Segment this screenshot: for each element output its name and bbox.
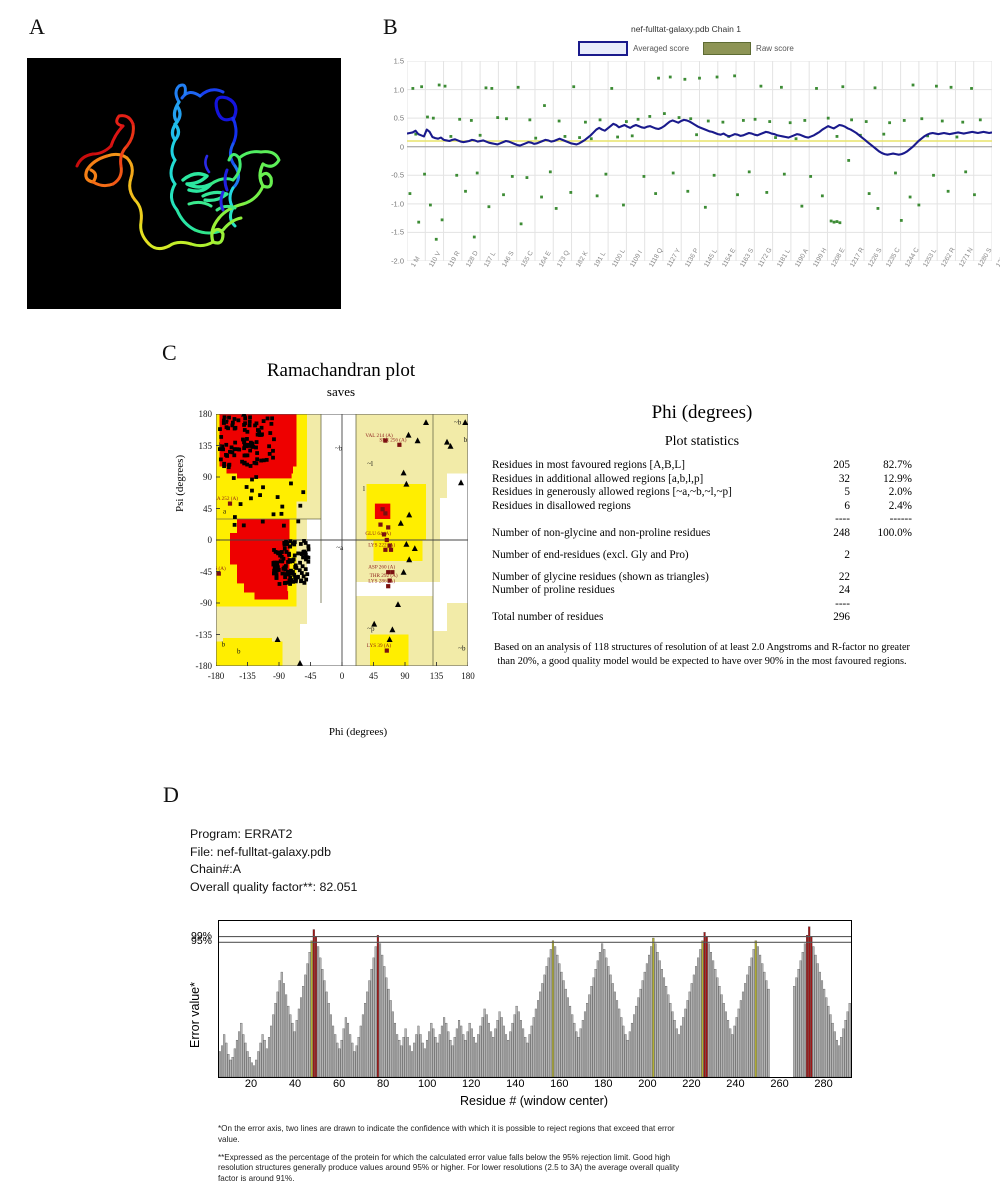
- errat-x-tick: 60: [333, 1078, 345, 1090]
- stats-row-count: 6: [792, 500, 850, 514]
- stats-row-label: [492, 562, 792, 571]
- errat-x-tick: 180: [594, 1078, 612, 1090]
- errat-x-tick: 260: [770, 1078, 788, 1090]
- panel-b-plot-area: [407, 61, 992, 261]
- ramachandran-region-letter: ~p: [367, 625, 375, 633]
- panel-d-errat: D Program: ERRAT2 File: nef-fulltat-gala…: [0, 790, 1000, 1200]
- stats-row: Number of non-glycine and non-proline re…: [492, 527, 912, 541]
- stats-row: [492, 540, 912, 549]
- ramachandran-y-tick: 135: [199, 441, 213, 451]
- panel-b-y-tick: -0.5: [391, 171, 404, 180]
- errat-footnote-1: *On the error axis, two lines are drawn …: [218, 1124, 688, 1146]
- errat-x-tick: 20: [245, 1078, 257, 1090]
- ramachandran-x-tick: 180: [461, 671, 475, 681]
- stats-row-count: 205: [792, 459, 850, 473]
- errat-x-ticks: 20406080100120140160180200220240260280: [218, 1078, 850, 1094]
- stats-row-count: 22: [792, 571, 850, 585]
- panel-b-legend: Averaged score Raw score: [380, 41, 992, 56]
- errat-x-tick: 140: [506, 1078, 524, 1090]
- stats-heading: Phi (degrees): [492, 402, 912, 424]
- ramachandran-y-tick: 0: [208, 535, 213, 545]
- errat-program-line: Program: ERRAT2: [190, 826, 357, 844]
- ramachandran-region-letter: ~l: [367, 460, 373, 468]
- ramachandran-region-letter: ~b: [454, 419, 462, 427]
- stats-row-label: Residues in most favoured regions [A,B,L…: [492, 459, 792, 473]
- panel-b-y-tick: -2.0: [391, 257, 404, 266]
- errat-x-tick: 240: [726, 1078, 744, 1090]
- stats-row: Number of glycine residues (shown as tri…: [492, 571, 912, 585]
- ramachandran-x-tick: -135: [239, 671, 256, 681]
- stats-row-count: ----: [792, 513, 850, 527]
- legend-item-raw-score: Raw score: [703, 42, 794, 55]
- ramachandran-residue-label: LYS 222 (A): [368, 541, 395, 548]
- stats-row-percent: 12.9%: [850, 473, 912, 487]
- panel-b-title: nef-fulltat-galaxy.pdb Chain 1: [380, 24, 992, 34]
- legend-item-averaged-score: Averaged score: [578, 41, 689, 56]
- panel-b-verify3d-chart: nef-fulltat-galaxy.pdb Chain 1 Averaged …: [380, 22, 992, 332]
- ramachandran-residue-label: ALA 252 (A): [216, 495, 238, 502]
- ramachandran-region-letter: ~a: [336, 544, 344, 552]
- panel-b-y-tick: -1.5: [391, 228, 404, 237]
- ramachandran-region-letter: B: [224, 416, 229, 424]
- stats-row-count: 296: [792, 611, 850, 625]
- errat-x-tick: 220: [682, 1078, 700, 1090]
- errat-header: Program: ERRAT2 File: nef-fulltat-galaxy…: [190, 826, 357, 896]
- errat-footnote-2: **Expressed as the percentage of the pro…: [218, 1153, 688, 1185]
- averaged-score-swatch: [578, 41, 628, 56]
- stats-row-label: Number of end-residues (excl. Gly and Pr…: [492, 549, 792, 563]
- ramachandran-y-tick: 180: [199, 409, 213, 419]
- panel-b-y-axis: 1.51.00.50-0.5-1.0-1.5-2.0: [380, 61, 406, 261]
- stats-row-percent: ------: [850, 513, 912, 527]
- ramachandran-title: Ramachandran plot: [196, 360, 486, 382]
- panel-a-letter: A: [29, 14, 45, 40]
- errat-x-tick: 80: [377, 1078, 389, 1090]
- errat-quality-line: Overall quality factor**: 82.051: [190, 879, 357, 897]
- errat-y-tick: 99%: [170, 930, 212, 942]
- ramachandran-y-ticks: -180-135-90-4504590135180: [178, 414, 212, 666]
- errat-x-tick: 280: [814, 1078, 832, 1090]
- stats-row-label: Number of proline residues: [492, 584, 792, 598]
- stats-row: Residues in generously allowed regions […: [492, 486, 912, 500]
- ramachandran-x-tick: 90: [401, 671, 410, 681]
- stats-row: Total number of residues296: [492, 611, 912, 625]
- panel-b-y-tick: -1.0: [391, 199, 404, 208]
- ramachandran-region-letter: ~b: [335, 444, 343, 452]
- panel-c-letter: C: [162, 340, 177, 366]
- averaged-score-label: Averaged score: [633, 44, 689, 53]
- stats-row-count: [792, 540, 850, 549]
- ramachandran-x-axis-label: Phi (degrees): [238, 726, 478, 738]
- ramachandran-region-letter: l: [363, 485, 365, 493]
- stats-row-label: Residues in additional allowed regions […: [492, 473, 792, 487]
- errat-x-axis-label: Residue # (window center): [218, 1094, 850, 1108]
- stats-row-label: [492, 513, 792, 527]
- ramachandran-y-tick: 45: [203, 504, 212, 514]
- panel-b-y-tick: 1.5: [394, 57, 404, 66]
- stats-row-percent: [850, 549, 912, 563]
- ramachandran-y-tick: -135: [196, 630, 213, 640]
- stats-row: Number of end-residues (excl. Gly and Pr…: [492, 549, 912, 563]
- stats-row-percent: [850, 562, 912, 571]
- ramachandran-x-ticks: -180-135-90-4504590135180: [216, 670, 468, 686]
- errat-x-tick: 40: [289, 1078, 301, 1090]
- stats-row: Residues in most favoured regions [A,B,L…: [492, 459, 912, 473]
- panel-b-x-tick: 1296 E: [995, 247, 1000, 269]
- stats-row: ----------: [492, 513, 912, 527]
- panel-c-ramachandran: C Ramachandran plot saves Psi (degrees) …: [0, 336, 1000, 766]
- ramachandran-x-tick: -45: [305, 671, 317, 681]
- ramachandran-region-letter: b: [222, 640, 226, 648]
- ramachandran-subtitle: saves: [196, 384, 486, 400]
- stats-row-percent: [850, 571, 912, 585]
- stats-note: Based on an analysis of 118 structures o…: [492, 641, 912, 671]
- stats-row-count: 32: [792, 473, 850, 487]
- stats-row-count: ----: [792, 598, 850, 612]
- stats-row: Number of proline residues24: [492, 584, 912, 598]
- stats-row-count: 5: [792, 486, 850, 500]
- errat-y-ticks: 95%99%: [170, 920, 214, 1076]
- stats-row: Residues in disallowed regions62.4%: [492, 500, 912, 514]
- stats-row-count: 248: [792, 527, 850, 541]
- stats-row-percent: [850, 598, 912, 612]
- stats-row-percent: 100.0%: [850, 527, 912, 541]
- errat-x-tick: 100: [418, 1078, 436, 1090]
- stats-row-label: Residues in disallowed regions: [492, 500, 792, 514]
- ramachandran-region-letter: ~b: [458, 645, 466, 653]
- protein-ribbon-svg: [27, 58, 341, 309]
- stats-row-percent: [850, 540, 912, 549]
- errat-x-tick: 120: [462, 1078, 480, 1090]
- panel-b-y-tick: 0: [400, 142, 404, 151]
- ramachandran-residue-label: ASP 260 (A): [368, 564, 395, 571]
- ramachandran-residue-label: GLU 64 (A): [365, 530, 391, 537]
- errat-plot-area: [218, 920, 852, 1078]
- raw-score-swatch: [703, 42, 751, 55]
- errat-file-line: File: nef-fulltat-galaxy.pdb: [190, 844, 357, 862]
- stats-row-label: Number of non-glycine and non-proline re…: [492, 527, 792, 541]
- stats-row-label: [492, 598, 792, 612]
- stats-row-percent: 82.7%: [850, 459, 912, 473]
- panel-b-y-tick: 1.0: [394, 85, 404, 94]
- stats-title: Plot statistics: [492, 434, 912, 450]
- ramachandran-residue-label: SER 256 (A): [379, 436, 406, 443]
- stats-row: [492, 562, 912, 571]
- ramachandran-plot-area: VAL 214 (A)SER 256 (A)ALA 252 (A)GLU 64 …: [216, 414, 468, 666]
- ramachandran-x-tick: 0: [340, 671, 345, 681]
- ramachandran-y-tick: -90: [200, 598, 212, 608]
- panel-d-letter: D: [163, 782, 179, 808]
- errat-x-tick: 160: [550, 1078, 568, 1090]
- ramachandran-y-tick: 90: [203, 472, 212, 482]
- ramachandran-region-letter: b: [464, 436, 468, 444]
- errat-chain-line: Chain#:A: [190, 861, 357, 879]
- ramachandran-x-tick: -90: [273, 671, 285, 681]
- stats-row-percent: [850, 611, 912, 625]
- panel-b-x-axis: 1 M110 V119 R128 D137 L146 S155 C164 E17…: [407, 263, 992, 309]
- errat-footnotes: *On the error axis, two lines are drawn …: [218, 1124, 688, 1192]
- plot-statistics-block: Phi (degrees) Plot statistics Residues i…: [492, 402, 912, 670]
- ramachandran-x-tick: -180: [208, 671, 225, 681]
- raw-score-label: Raw score: [756, 44, 794, 53]
- ramachandran-region-letter: b: [237, 647, 241, 655]
- errat-chart: Error value* 95%99% 20406080100120140160…: [218, 920, 850, 1076]
- ramachandran-residue-label: LYS 39 (A): [367, 642, 392, 649]
- ramachandran-residue-label: LYS 206 (A): [216, 565, 226, 572]
- stats-row: Residues in additional allowed regions […: [492, 473, 912, 487]
- stats-row-label: Residues in generously allowed regions […: [492, 486, 792, 500]
- stats-row-count: 24: [792, 584, 850, 598]
- stats-row-label: Total number of residues: [492, 611, 792, 625]
- ramachandran-residue-label: LYS 286 (A): [368, 578, 395, 585]
- stats-row-label: Number of glycine residues (shown as tri…: [492, 571, 792, 585]
- stats-table: Residues in most favoured regions [A,B,L…: [492, 459, 912, 625]
- panel-b-y-tick: 0.5: [394, 114, 404, 123]
- stats-row-percent: 2.0%: [850, 486, 912, 500]
- ramachandran-x-tick: 45: [369, 671, 378, 681]
- ramachandran-y-tick: -180: [196, 661, 213, 671]
- stats-row-count: [792, 562, 850, 571]
- errat-x-tick: 200: [638, 1078, 656, 1090]
- stats-row-percent: [850, 584, 912, 598]
- stats-row-percent: 2.4%: [850, 500, 912, 514]
- protein-ribbon-image: [27, 58, 341, 309]
- ramachandran-y-tick: -45: [200, 567, 212, 577]
- ramachandran-x-tick: 135: [430, 671, 444, 681]
- stats-row-label: [492, 540, 792, 549]
- stats-row: ----: [492, 598, 912, 612]
- stats-row-count: 2: [792, 549, 850, 563]
